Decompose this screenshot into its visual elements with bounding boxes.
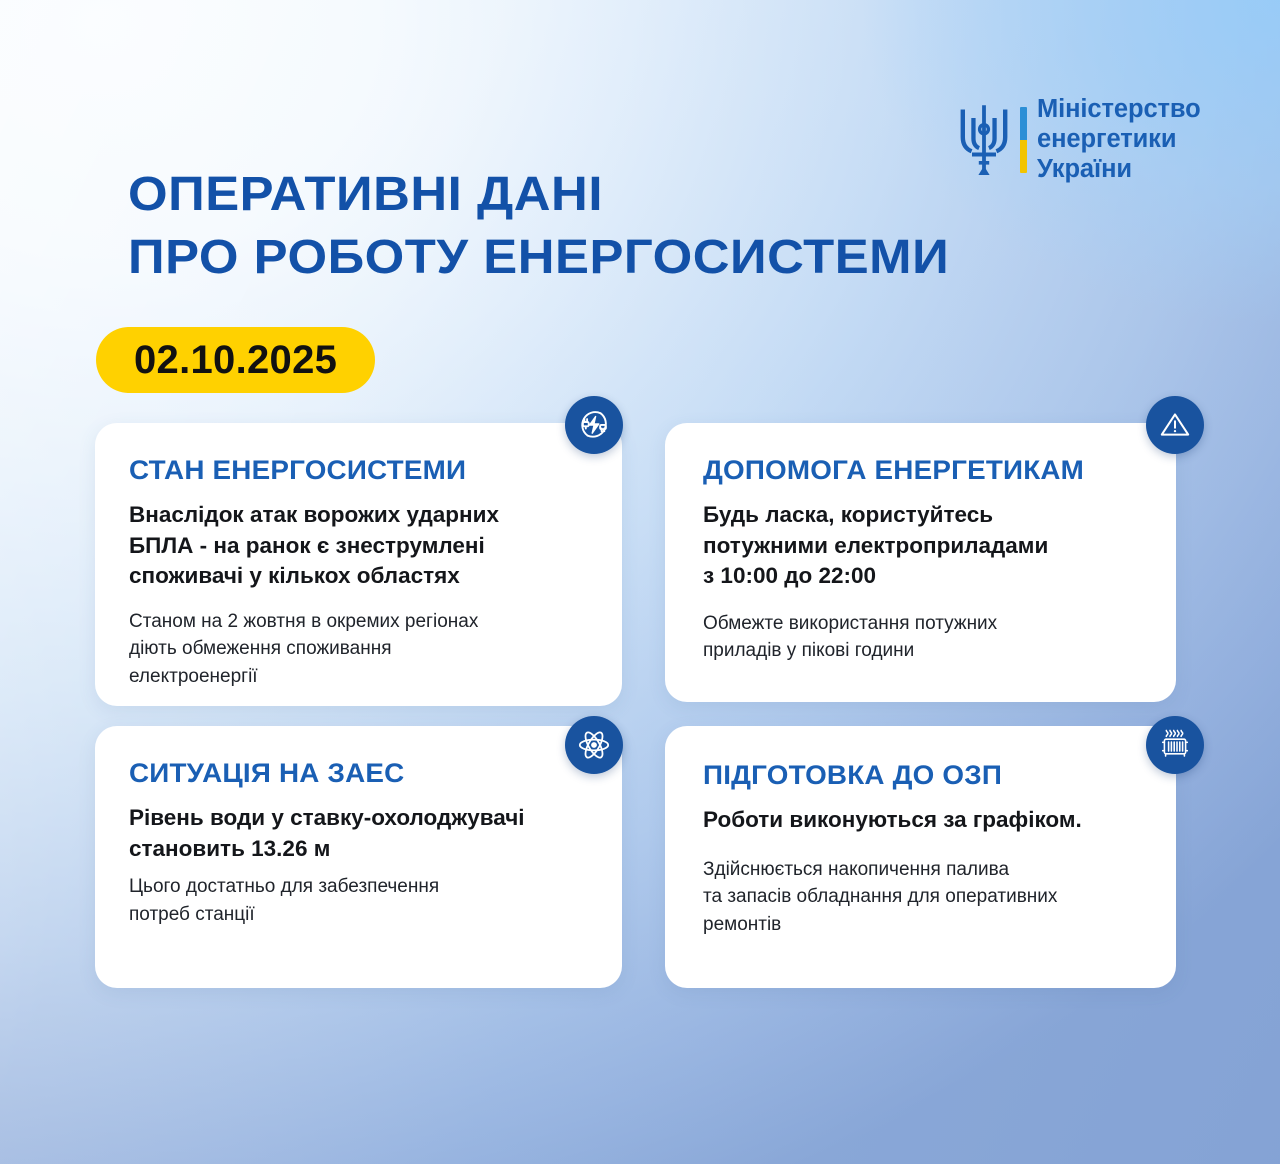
plug-lightning-icon <box>565 396 623 454</box>
atom-icon <box>565 716 623 774</box>
card-energy-state-lead: Внаслідок атак ворожих ударних БПЛА - на… <box>129 500 588 592</box>
radiator-icon <box>1146 716 1204 774</box>
card-heating-season-prep-lead: Роботи виконуються за графіком. <box>703 805 1142 836</box>
page-title: ОПЕРАТИВНІ ДАНІ ПРО РОБОТУ ЕНЕРГОСИСТЕМИ <box>128 163 949 290</box>
card-energy-state-note: Станом на 2 жовтня в окремих регіонах ді… <box>129 608 588 691</box>
report-date-badge: 02.10.2025 <box>96 327 375 393</box>
card-zaes-situation-note: Цього достатньо для забезпечення потреб … <box>129 873 588 928</box>
card-help-energy-workers-body: ДОПОМОГА ЕНЕРГЕТИКАМ Будь ласка, користу… <box>665 423 1176 691</box>
card-heating-season-prep-note: Здійснюється накопичення палива та запас… <box>703 856 1142 939</box>
ministry-logo: Міністерство енергетики України <box>958 95 1201 184</box>
card-heating-season-prep-body: ПІДГОТОВКА ДО ОЗП Роботи виконуються за … <box>665 726 1176 964</box>
card-zaes-situation-heading: СИТУАЦІЯ НА ЗАЕС <box>129 758 602 789</box>
infographic-page: Міністерство енергетики України ОПЕРАТИВ… <box>0 0 1280 1164</box>
card-help-energy-workers-note: Обмежте використання потужних приладів у… <box>703 610 1142 665</box>
card-help-energy-workers: ДОПОМОГА ЕНЕРГЕТИКАМ Будь ласка, користу… <box>665 423 1176 702</box>
card-help-energy-workers-heading: ДОПОМОГА ЕНЕРГЕТИКАМ <box>703 455 1155 486</box>
card-heating-season-prep: ПІДГОТОВКА ДО ОЗП Роботи виконуються за … <box>665 726 1176 988</box>
card-heating-season-prep-heading: ПІДГОТОВКА ДО ОЗП <box>703 760 1155 791</box>
ukraine-trident-icon <box>958 103 1010 177</box>
card-energy-state-heading: СТАН ЕНЕРГОСИСТЕМИ <box>129 455 602 486</box>
report-date-value: 02.10.2025 <box>134 338 337 383</box>
card-zaes-situation-body: СИТУАЦІЯ НА ЗАЕС Рівень води у ставку-ох… <box>95 726 622 954</box>
card-zaes-situation: СИТУАЦІЯ НА ЗАЕС Рівень води у ставку-ох… <box>95 726 622 988</box>
card-energy-state-body: СТАН ЕНЕРГОСИСТЕМИ Внаслідок атак ворожи… <box>95 423 622 716</box>
ukraine-flag-bar <box>1020 107 1027 173</box>
card-help-energy-workers-lead: Будь ласка, користуйтесь потужними елект… <box>703 500 1142 592</box>
ministry-name: Міністерство енергетики України <box>1037 95 1201 184</box>
card-zaes-situation-lead: Рівень води у ставку-охолоджувачі станов… <box>129 803 588 864</box>
warning-triangle-icon <box>1146 396 1204 454</box>
card-energy-state: СТАН ЕНЕРГОСИСТЕМИ Внаслідок атак ворожи… <box>95 423 622 706</box>
